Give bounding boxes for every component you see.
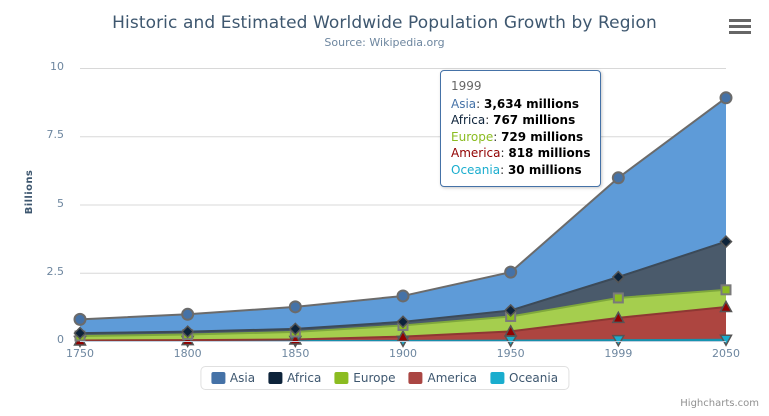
y-axis-tick-label: 5 — [20, 197, 64, 210]
tooltip-series-name: Asia — [451, 97, 476, 111]
legend-item-africa[interactable]: Africa — [268, 371, 321, 385]
legend-swatch-icon — [490, 372, 504, 384]
legend-item-label: Asia — [230, 371, 255, 385]
x-axis-tick-label: 1800 — [158, 347, 218, 360]
highcharts-container: Historic and Estimated Worldwide Populat… — [0, 0, 769, 416]
legend-item-europe[interactable]: Europe — [334, 371, 395, 385]
y-axis-tick-label: 0 — [20, 333, 64, 346]
x-axis-tick-label: 1999 — [588, 347, 648, 360]
tooltip-series-name: Oceania — [451, 163, 500, 177]
legend-item-america[interactable]: America — [409, 371, 478, 385]
tooltip-series-value: 818 millions — [508, 146, 590, 160]
tooltip-header: 1999 — [451, 78, 590, 96]
tooltip-series-value: 729 millions — [501, 130, 583, 144]
y-axis-tick-label: 10 — [20, 60, 64, 73]
legend-item-label: Europe — [353, 371, 395, 385]
tooltip-separator: : — [493, 130, 501, 144]
tooltip-row: Europe: 729 millions — [451, 129, 590, 146]
highcharts-credits[interactable]: Highcharts.com — [680, 398, 759, 409]
tooltip-rows: Asia: 3,634 millionsAfrica: 767 millions… — [451, 96, 590, 179]
chart-tooltip: 1999 Asia: 3,634 millionsAfrica: 767 mil… — [440, 70, 601, 187]
legend-swatch-icon — [409, 372, 423, 384]
legend-swatch-icon — [211, 372, 225, 384]
x-axis-tick-label: 1900 — [373, 347, 433, 360]
tooltip-separator: : — [476, 97, 484, 111]
x-axis-tick-label: 1750 — [50, 347, 110, 360]
legend-swatch-icon — [268, 372, 282, 384]
tooltip-separator: : — [500, 163, 508, 177]
tooltip-series-name: Europe — [451, 130, 493, 144]
tooltip-series-name: America — [451, 146, 501, 160]
tooltip-row: Asia: 3,634 millions — [451, 96, 590, 113]
x-axis-tick-label: 1950 — [481, 347, 541, 360]
legend-swatch-icon — [334, 372, 348, 384]
y-axis-tick-label: 7.5 — [20, 128, 64, 141]
legend-item-label: Oceania — [509, 371, 558, 385]
tooltip-series-value: 30 millions — [508, 163, 582, 177]
tooltip-row: Oceania: 30 millions — [451, 162, 590, 179]
legend-item-label: Africa — [287, 371, 321, 385]
tooltip-series-name: Africa — [451, 113, 485, 127]
legend-item-asia[interactable]: Asia — [211, 371, 255, 385]
y-axis-tick-label: 2.5 — [20, 265, 64, 278]
x-axis-tick-label: 1850 — [265, 347, 325, 360]
tooltip-row: America: 818 millions — [451, 145, 590, 162]
x-axis-tick-label: 2050 — [696, 347, 756, 360]
tooltip-series-value: 767 millions — [493, 113, 575, 127]
tooltip-row: Africa: 767 millions — [451, 112, 590, 129]
tooltip-series-value: 3,634 millions — [484, 97, 579, 111]
tooltip-separator: : — [485, 113, 493, 127]
legend-item-oceania[interactable]: Oceania — [490, 371, 558, 385]
chart-legend: AsiaAfricaEuropeAmericaOceania — [200, 366, 569, 390]
legend-item-label: America — [428, 371, 478, 385]
